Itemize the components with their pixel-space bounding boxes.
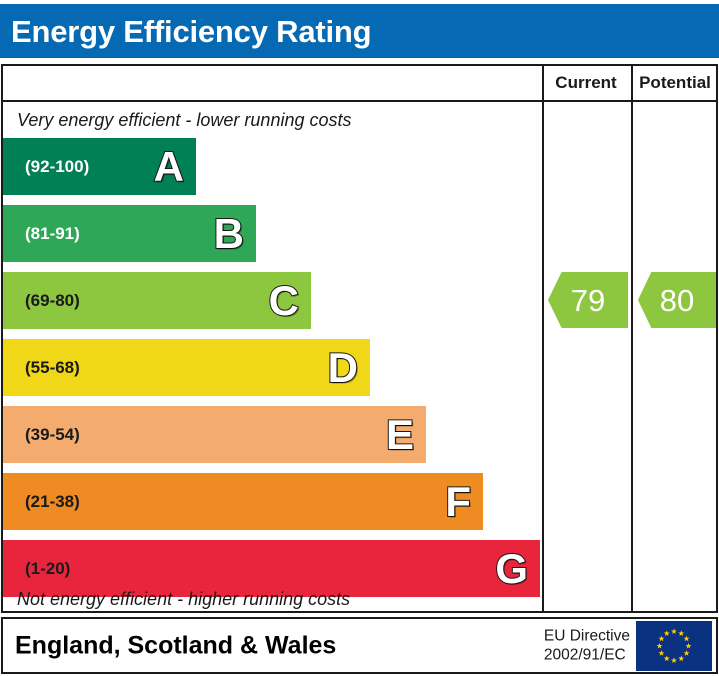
band-range-label-a: (92-100) — [3, 157, 89, 177]
rating-arrow-potential: 80 — [638, 272, 716, 328]
band-letter-d: D — [328, 347, 358, 389]
band-range-label-f: (21-38) — [3, 492, 80, 512]
column-header-current: Current — [542, 66, 630, 100]
epc-certificate: Energy Efficiency Rating Current Potenti… — [0, 0, 719, 676]
band-range-label-d: (55-68) — [3, 358, 80, 378]
band-letter-g: G — [495, 548, 528, 590]
band-letter-c: C — [269, 280, 299, 322]
footer-region-label: England, Scotland & Wales — [15, 631, 336, 660]
energy-band-a: (92-100)A — [3, 138, 196, 195]
column-header-potential: Potential — [632, 66, 718, 100]
band-range-label-b: (81-91) — [3, 224, 80, 244]
band-range-label-e: (39-54) — [3, 425, 80, 445]
directive-line-1: EU Directive — [544, 626, 630, 645]
energy-band-f: (21-38)F — [3, 473, 483, 530]
footer-bar: England, Scotland & Wales EU Directive 2… — [1, 617, 718, 674]
band-bars-group: (92-100)A(81-91)B(69-80)C(55-68)D(39-54)… — [3, 66, 540, 611]
column-divider-2 — [631, 66, 633, 611]
column-divider-1 — [542, 66, 544, 611]
directive-line-2: 2002/91/EC — [544, 646, 630, 665]
band-range-label-g: (1-20) — [3, 559, 70, 579]
band-letter-e: E — [386, 414, 414, 456]
energy-band-e: (39-54)E — [3, 406, 426, 463]
band-letter-f: F — [445, 481, 471, 523]
energy-band-c: (69-80)C — [3, 272, 311, 329]
eu-flag-icon — [636, 621, 712, 671]
footer-directive: EU Directive 2002/91/EC — [544, 626, 630, 665]
energy-band-d: (55-68)D — [3, 339, 370, 396]
rating-table: Current Potential Very energy efficient … — [1, 64, 718, 613]
band-letter-b: B — [214, 213, 244, 255]
page-title: Energy Efficiency Rating — [0, 16, 371, 47]
caption-not-efficient: Not energy efficient - higher running co… — [17, 589, 350, 610]
band-range-label-c: (69-80) — [3, 291, 80, 311]
band-letter-a: A — [154, 146, 184, 188]
rating-arrow-current: 79 — [548, 272, 628, 328]
chart-header-banner: Energy Efficiency Rating — [0, 4, 719, 58]
energy-band-b: (81-91)B — [3, 205, 256, 262]
